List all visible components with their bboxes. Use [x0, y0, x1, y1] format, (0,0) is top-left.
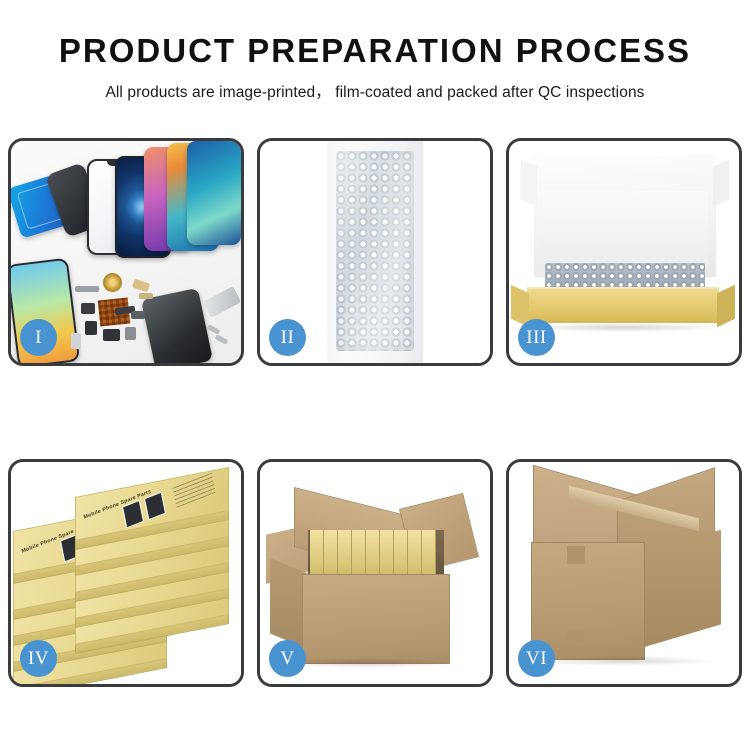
carton-handle-tab [567, 630, 585, 646]
step-panel-3: III [506, 138, 742, 366]
step-panel-2: II [257, 138, 493, 366]
page-title: PRODUCT PREPARATION PROCESS [0, 34, 750, 69]
spare-part [71, 333, 81, 349]
spare-part [139, 293, 153, 299]
page-subtitle: All products are image-printed， film-coa… [0, 80, 750, 102]
step-panel-6: VI [506, 459, 742, 687]
step-badge-6: VI [518, 640, 555, 677]
spare-part [125, 327, 136, 340]
spare-part [81, 303, 95, 314]
phone-back-housing-image [141, 288, 213, 363]
step-badge-5: V [269, 640, 306, 677]
spare-part [75, 286, 99, 292]
screw-part [215, 334, 229, 345]
product-preparation-infographic: PRODUCT PREPARATION PROCESS All products… [0, 0, 750, 750]
box-screen-thumb [122, 500, 144, 529]
step-panel-1: I [8, 138, 244, 366]
drop-shadow [525, 323, 721, 332]
box-spec-lines [172, 472, 215, 508]
step-panel-5: V [257, 459, 493, 687]
step-badge-3: III [518, 319, 555, 356]
mailer-front-panel [527, 289, 719, 323]
mailer-inner-liner [542, 191, 708, 269]
gradient-phone-image [187, 141, 241, 245]
carton-right-panel [641, 530, 721, 648]
carton-front-panel [531, 542, 645, 660]
speaker-coil-icon [103, 273, 122, 292]
repair-tool-image [203, 286, 241, 318]
step-badge-2: II [269, 319, 306, 356]
step-badge-4: IV [20, 640, 57, 677]
steps-grid: I II III [8, 138, 742, 687]
page-header: PRODUCT PREPARATION PROCESS All products… [0, 0, 750, 102]
screw-part [207, 324, 221, 335]
carton-front-panel [302, 574, 450, 664]
spare-part [103, 329, 120, 341]
box-screen-thumb [144, 492, 166, 521]
carton-handle-tab [567, 546, 585, 564]
bubble-wrap-texture [336, 151, 414, 351]
spare-part [132, 279, 150, 293]
drop-shadow [529, 656, 717, 666]
spare-part [85, 321, 97, 335]
spare-part [131, 311, 145, 319]
step-panel-4: Mobile Phone Spare Parts [8, 459, 244, 687]
step-badge-1: I [20, 319, 57, 356]
